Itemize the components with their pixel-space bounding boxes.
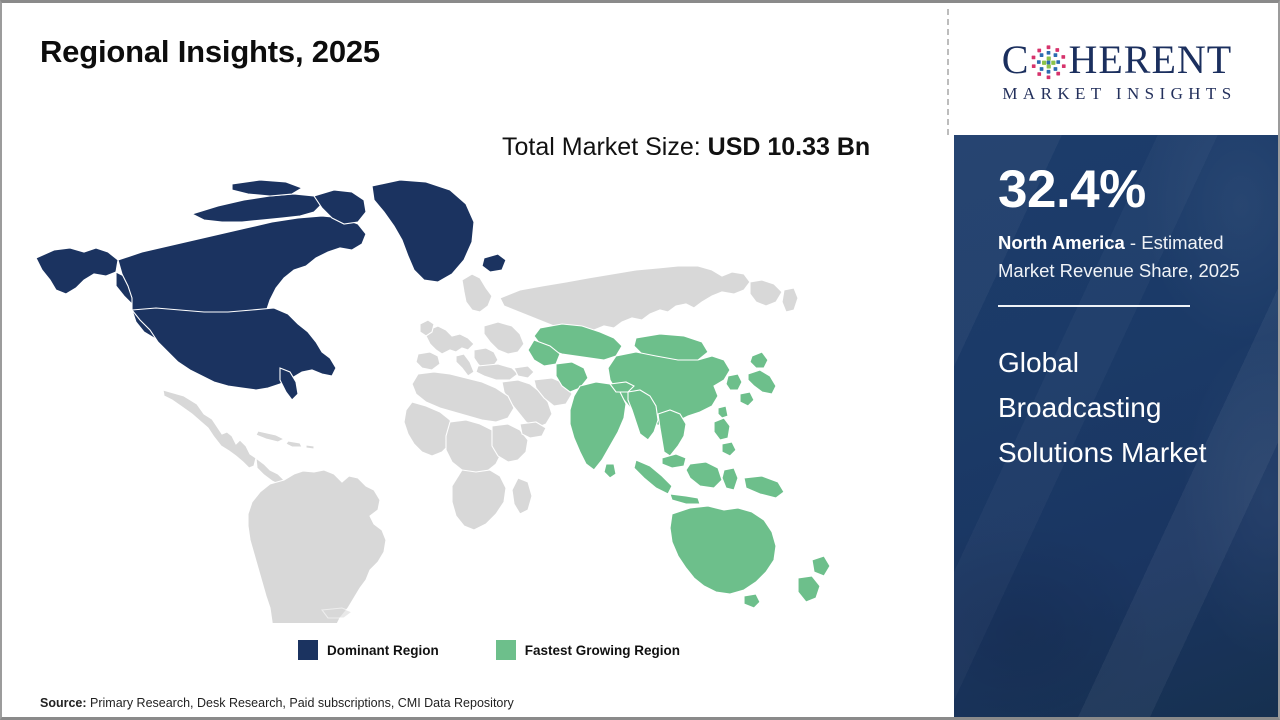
region-south-america (248, 470, 386, 623)
stat-description: North America - Estimated Market Revenue… (998, 229, 1260, 285)
regional-insights-infographic: Regional Insights, 2025 Total Market Siz… (0, 0, 1280, 720)
region-japan-honshu (748, 370, 776, 394)
region-thailand-vietnam (658, 410, 686, 456)
region-mexico (163, 390, 256, 468)
legend-label-fastest-growing: Fastest Growing Region (525, 643, 680, 658)
stat-value: 32.4% (998, 163, 1244, 217)
region-western-europe (426, 326, 474, 354)
legend-swatch-dominant (298, 640, 318, 660)
market-name: Global Broadcasting Solutions Market (998, 340, 1248, 475)
region-java (670, 494, 700, 504)
source-text: Primary Research, Desk Research, Paid su… (90, 696, 514, 710)
stat-sidebar: 32.4% North America - Estimated Market R… (954, 135, 1280, 720)
region-australia (670, 506, 776, 594)
region-caucasus (514, 366, 534, 378)
page-title: Regional Insights, 2025 (40, 34, 380, 70)
region-usa (132, 308, 336, 390)
region-canada-arctic-2 (232, 180, 302, 196)
map-legend: Dominant Region Fastest Growing Region (298, 640, 680, 660)
logo-letter-c: C (1002, 40, 1030, 80)
legend-item-dominant: Dominant Region (298, 640, 439, 660)
region-madagascar (512, 478, 532, 514)
stat-region-name: North America (998, 232, 1125, 253)
region-taiwan (718, 406, 728, 418)
region-sri-lanka (604, 464, 616, 478)
region-iceland (482, 254, 506, 272)
region-kamchatka (782, 288, 798, 312)
sidebar-divider-rule (998, 305, 1190, 307)
region-caribbean-cuba (256, 431, 284, 442)
source-note: Source: Primary Research, Desk Research,… (40, 696, 514, 710)
world-map: .gray { fill:#d8d8d8; stroke:#ffffff; st… (22, 178, 922, 623)
region-borneo (686, 462, 722, 488)
region-turkey (476, 364, 518, 380)
region-tasmania (744, 594, 760, 608)
stat-sidebar-content: 32.4% North America - Estimated Market R… (954, 135, 1280, 475)
globe-dots-icon (1030, 44, 1067, 81)
region-sulawesi (722, 468, 738, 490)
vertical-dashed-divider (947, 9, 949, 135)
region-japan-kyushu (740, 392, 754, 406)
logo-tagline: MARKET INSIGHTS (997, 84, 1236, 104)
region-scandinavia (462, 274, 492, 312)
world-map-container: .gray { fill:#d8d8d8; stroke:#ffffff; st… (22, 178, 922, 623)
region-iberia (416, 352, 440, 370)
region-korea (726, 374, 742, 390)
region-philippines (714, 418, 730, 440)
region-new-zealand-north (812, 556, 830, 576)
logo-letters-herent: HERENT (1068, 40, 1232, 80)
legend-label-dominant: Dominant Region (327, 643, 439, 658)
region-new-zealand-south (798, 576, 820, 602)
region-malaysia (662, 454, 686, 468)
legend-swatch-fastest-growing (496, 640, 516, 660)
total-market-size-label: Total Market Size: (502, 133, 708, 161)
legend-item-fastest-growing: Fastest Growing Region (496, 640, 680, 660)
region-southern-africa (452, 470, 506, 530)
left-content-panel: Regional Insights, 2025 Total Market Siz… (2, 3, 947, 717)
total-market-size-value: USD 10.33 Bn (708, 133, 871, 161)
region-russia (500, 266, 750, 334)
logo-wordmark: C (1002, 40, 1232, 80)
region-papua (744, 476, 784, 498)
region-russia-far-east (750, 280, 782, 306)
region-india (570, 382, 626, 470)
brand-logo: C (954, 9, 1280, 134)
region-japan (750, 352, 768, 368)
region-caribbean-pr (306, 445, 314, 449)
region-greenland (372, 180, 474, 282)
source-label: Source: (40, 696, 90, 710)
region-italy (456, 354, 474, 376)
region-caribbean-hispaniola (286, 441, 302, 447)
region-alaska (36, 248, 118, 294)
region-philippines-south (722, 442, 736, 456)
total-market-size: Total Market Size: USD 10.33 Bn (502, 128, 912, 167)
region-eastern-europe (484, 322, 524, 354)
